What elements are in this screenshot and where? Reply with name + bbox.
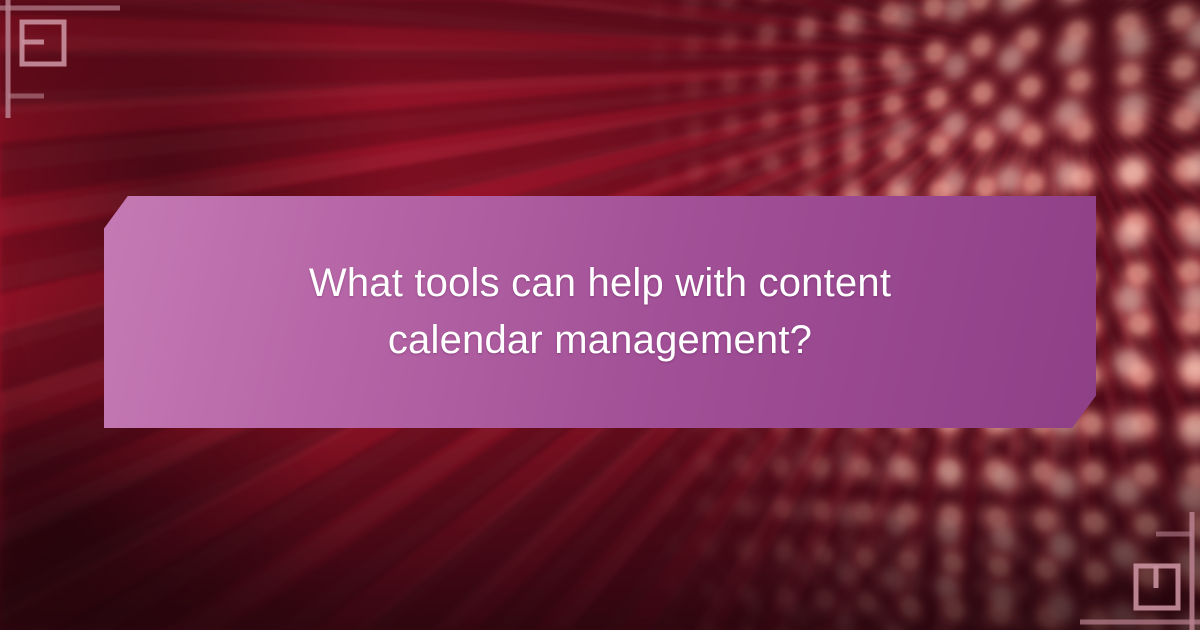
page-title: What tools can help with content calenda… [270,255,930,369]
social-card-canvas: What tools can help with content calenda… [0,0,1200,630]
title-plaque: What tools can help with content calenda… [104,196,1096,428]
title-plaque-content: What tools can help with content calenda… [104,196,1096,428]
